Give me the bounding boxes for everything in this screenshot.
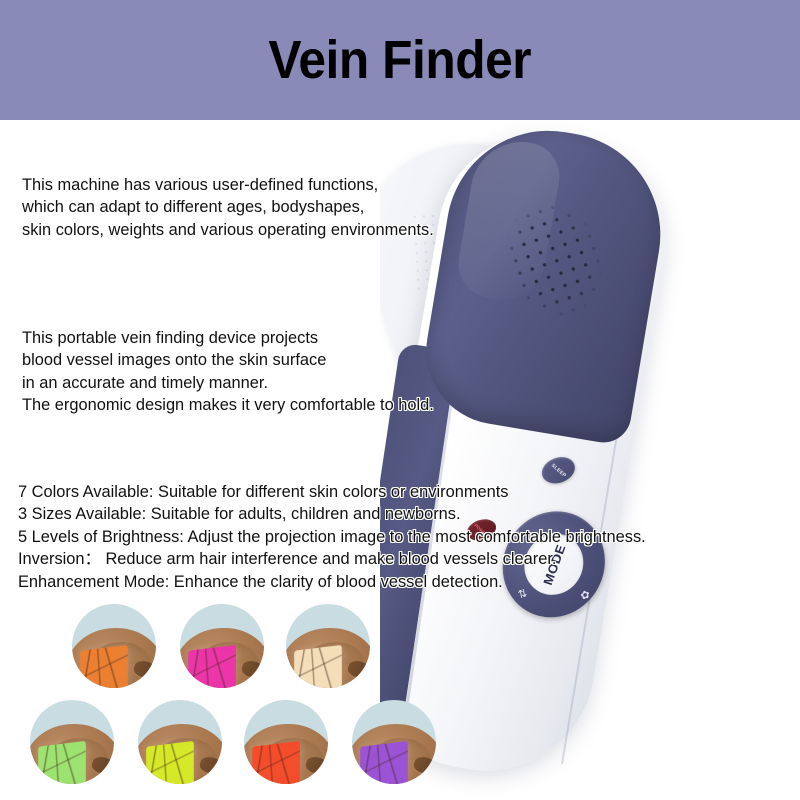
vein-projection — [360, 741, 408, 784]
header-band: Vein Finder — [0, 0, 800, 120]
projection-color-swatches — [0, 596, 480, 800]
feature-item: Enhancement Mode: Enhance the clarity of… — [18, 571, 646, 593]
swatch-magenta — [180, 604, 264, 688]
vein-projection — [80, 645, 128, 688]
swatch-white — [286, 604, 370, 688]
usage-paragraph: This portable vein finding device projec… — [22, 327, 434, 417]
usage-line: in an accurate and timely manner. — [22, 372, 434, 394]
intro-paragraph: This machine has various user-defined fu… — [22, 174, 434, 241]
vein-projection — [188, 645, 236, 688]
feature-item: 7 Colors Available: Suitable for differe… — [18, 481, 646, 503]
hand-skin — [138, 724, 222, 784]
hand-skin — [244, 724, 328, 784]
usage-line: The ergonomic design makes it very comfo… — [22, 394, 434, 416]
swatch-orange — [72, 604, 156, 688]
feature-list: 7 Colors Available: Suitable for differe… — [18, 481, 646, 593]
thumb — [132, 658, 156, 681]
vein-pattern — [146, 741, 194, 784]
usage-line: blood vessel images onto the skin surfac… — [22, 349, 434, 371]
vein-pattern — [294, 645, 342, 688]
intro-line: which can adapt to different ages, bodys… — [22, 196, 434, 218]
vein-pattern — [360, 741, 408, 784]
swatch-purple — [352, 700, 436, 784]
thumb — [198, 754, 222, 777]
product-info-page: Vein Finder SLEEP POWER ☀ — [0, 0, 800, 800]
vein-pattern — [38, 741, 86, 784]
feature-item: 5 Levels of Brightness: Adjust the proje… — [18, 526, 646, 548]
vein-projection — [252, 741, 300, 784]
intro-line: skin colors, weights and various operati… — [22, 219, 434, 241]
thumb — [304, 754, 328, 777]
feature-item: Inversion： Reduce arm hair interference … — [18, 548, 646, 570]
hand-skin — [180, 628, 264, 688]
hand-skin — [72, 628, 156, 688]
thumb — [90, 754, 114, 777]
swatch-yellowgreen — [138, 700, 222, 784]
vein-projection — [38, 741, 86, 784]
usage-line: This portable vein finding device projec… — [22, 327, 434, 349]
swatch-red — [244, 700, 328, 784]
vein-pattern — [252, 741, 300, 784]
vein-projection — [146, 741, 194, 784]
thumb — [240, 658, 264, 681]
hand-skin — [286, 628, 370, 688]
hand-skin — [30, 724, 114, 784]
vein-projection — [294, 645, 342, 688]
page-title: Vein Finder — [269, 33, 532, 87]
vein-pattern — [80, 645, 128, 688]
vein-pattern — [188, 645, 236, 688]
swatch-green — [30, 700, 114, 784]
sleep-button-label: SLEEP — [550, 462, 567, 478]
thumb — [346, 658, 370, 681]
thumb — [412, 754, 436, 777]
feature-item: 3 Sizes Available: Suitable for adults, … — [18, 503, 646, 525]
hand-skin — [352, 724, 436, 784]
intro-line: This machine has various user-defined fu… — [22, 174, 434, 196]
